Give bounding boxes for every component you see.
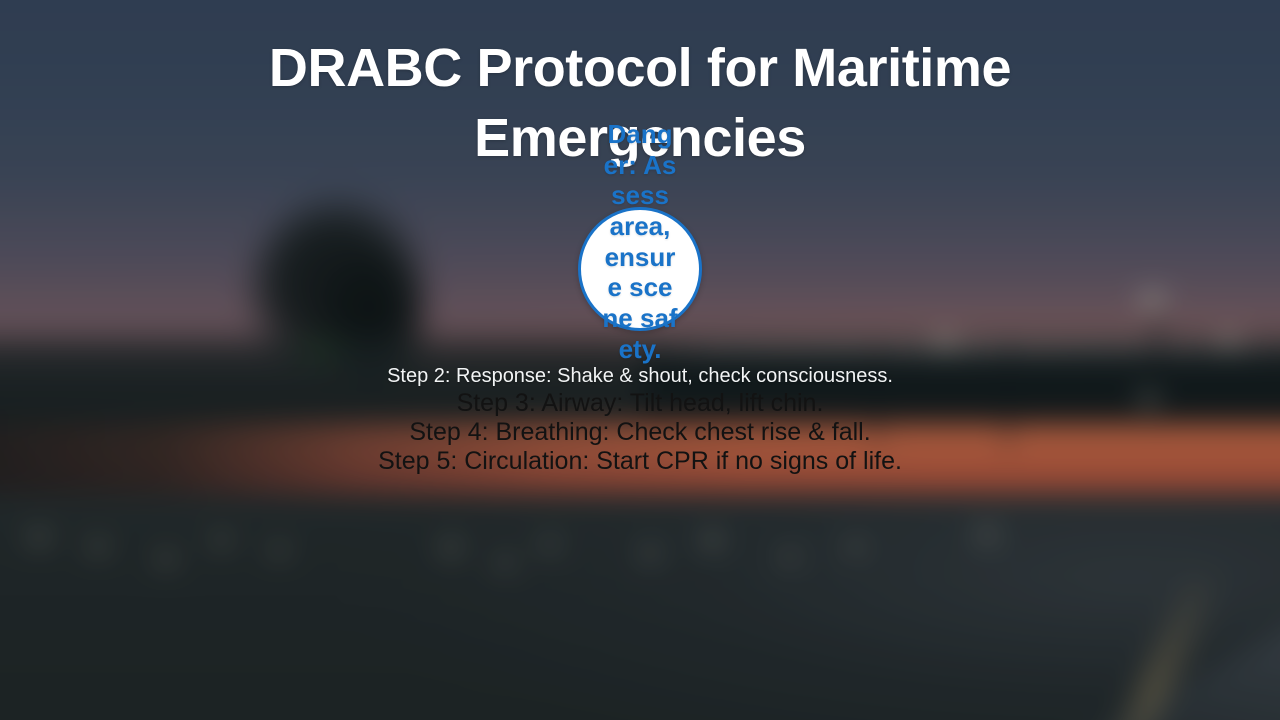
diagram-node-label: Danger: Assess area, ensure scene safety…	[602, 119, 678, 364]
step-item-3: Step 3: Airway: Tilt head, lift chin.	[0, 389, 1280, 418]
steps-list: Step 2: Response: Shake & shout, check c…	[0, 363, 1280, 476]
step-item-2: Step 2: Response: Shake & shout, check c…	[0, 363, 1280, 389]
presentation-slide: DRABC Protocol for Maritime Emergencies …	[0, 0, 1280, 720]
slide-content: DRABC Protocol for Maritime Emergencies …	[0, 0, 1280, 720]
step-item-5: Step 5: Circulation: Start CPR if no sig…	[0, 447, 1280, 476]
step-item-4: Step 4: Breathing: Check chest rise & fa…	[0, 418, 1280, 447]
